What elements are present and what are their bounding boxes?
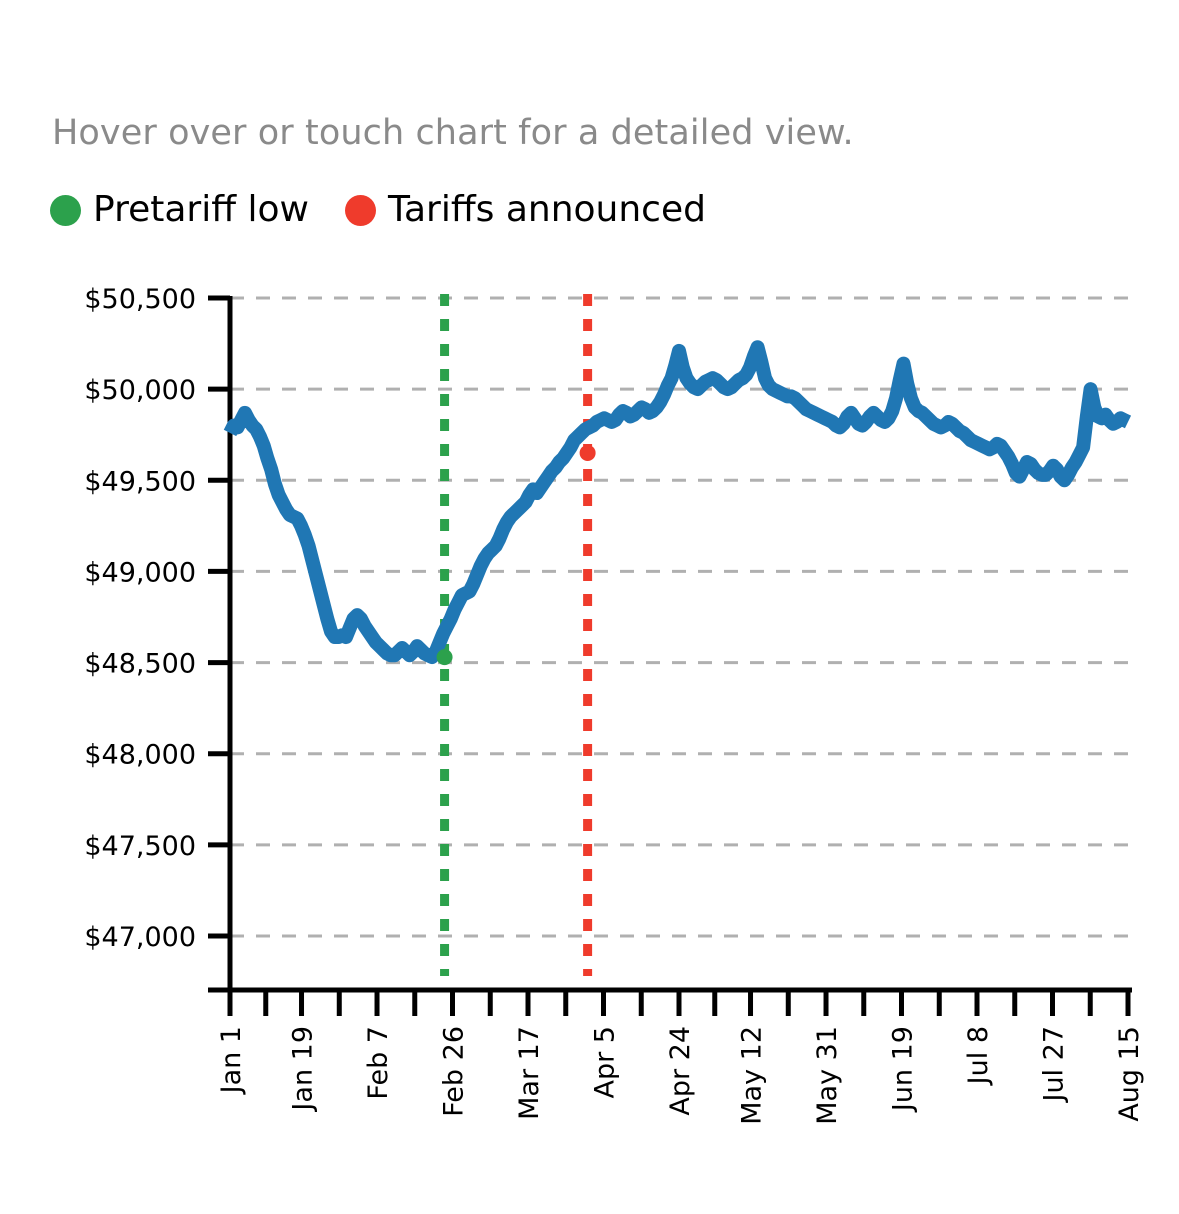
y-tick-label: $50,000 bbox=[84, 375, 196, 406]
x-tick-label: Jan 19 bbox=[288, 1026, 319, 1113]
x-tick-label: Jul 27 bbox=[1039, 1026, 1070, 1104]
event-point-marker bbox=[580, 445, 596, 461]
chart-data-line bbox=[230, 347, 1128, 657]
x-tick-label: Apr 5 bbox=[590, 1026, 621, 1098]
x-tick-label: Apr 24 bbox=[665, 1026, 696, 1116]
y-tick-label: $48,500 bbox=[84, 649, 196, 680]
x-tick-label: Jan 1 bbox=[216, 1026, 247, 1095]
x-tick-label: Jul 8 bbox=[963, 1026, 994, 1086]
x-tick-label: Feb 26 bbox=[439, 1026, 470, 1117]
x-tick-label: Feb 7 bbox=[363, 1026, 394, 1100]
event-point-marker bbox=[437, 649, 453, 665]
y-tick-label: $49,500 bbox=[84, 466, 196, 497]
chart-y-ticks bbox=[208, 298, 230, 936]
x-tick-label: Jun 19 bbox=[888, 1026, 919, 1113]
y-tick-label: $47,000 bbox=[84, 922, 196, 953]
x-tick-label: May 31 bbox=[812, 1026, 843, 1125]
y-tick-label: $48,000 bbox=[84, 740, 196, 771]
x-tick-label: Mar 17 bbox=[514, 1026, 545, 1120]
y-tick-label: $49,000 bbox=[84, 557, 196, 588]
x-tick-label: Aug 15 bbox=[1114, 1026, 1145, 1122]
chart-svg[interactable]: $50,500$50,000$49,500$49,000$48,500$48,0… bbox=[0, 0, 1179, 1214]
chart-page: Hover over or touch chart for a detailed… bbox=[0, 0, 1179, 1214]
y-tick-label: $50,500 bbox=[84, 284, 196, 315]
chart-x-ticks bbox=[230, 990, 1128, 1016]
y-tick-label: $47,500 bbox=[84, 831, 196, 862]
price-line bbox=[230, 347, 1128, 657]
chart-x-tick-labels: Jan 1Jan 19Feb 7Feb 26Mar 17Apr 5Apr 24M… bbox=[216, 1026, 1145, 1125]
chart-y-tick-labels: $50,500$50,000$49,500$49,000$48,500$48,0… bbox=[84, 284, 196, 953]
chart-event-lines bbox=[445, 294, 588, 976]
chart-event-markers bbox=[437, 445, 596, 665]
x-tick-label: May 12 bbox=[737, 1026, 768, 1125]
line-chart[interactable]: $50,500$50,000$49,500$49,000$48,500$48,0… bbox=[0, 0, 1179, 1214]
